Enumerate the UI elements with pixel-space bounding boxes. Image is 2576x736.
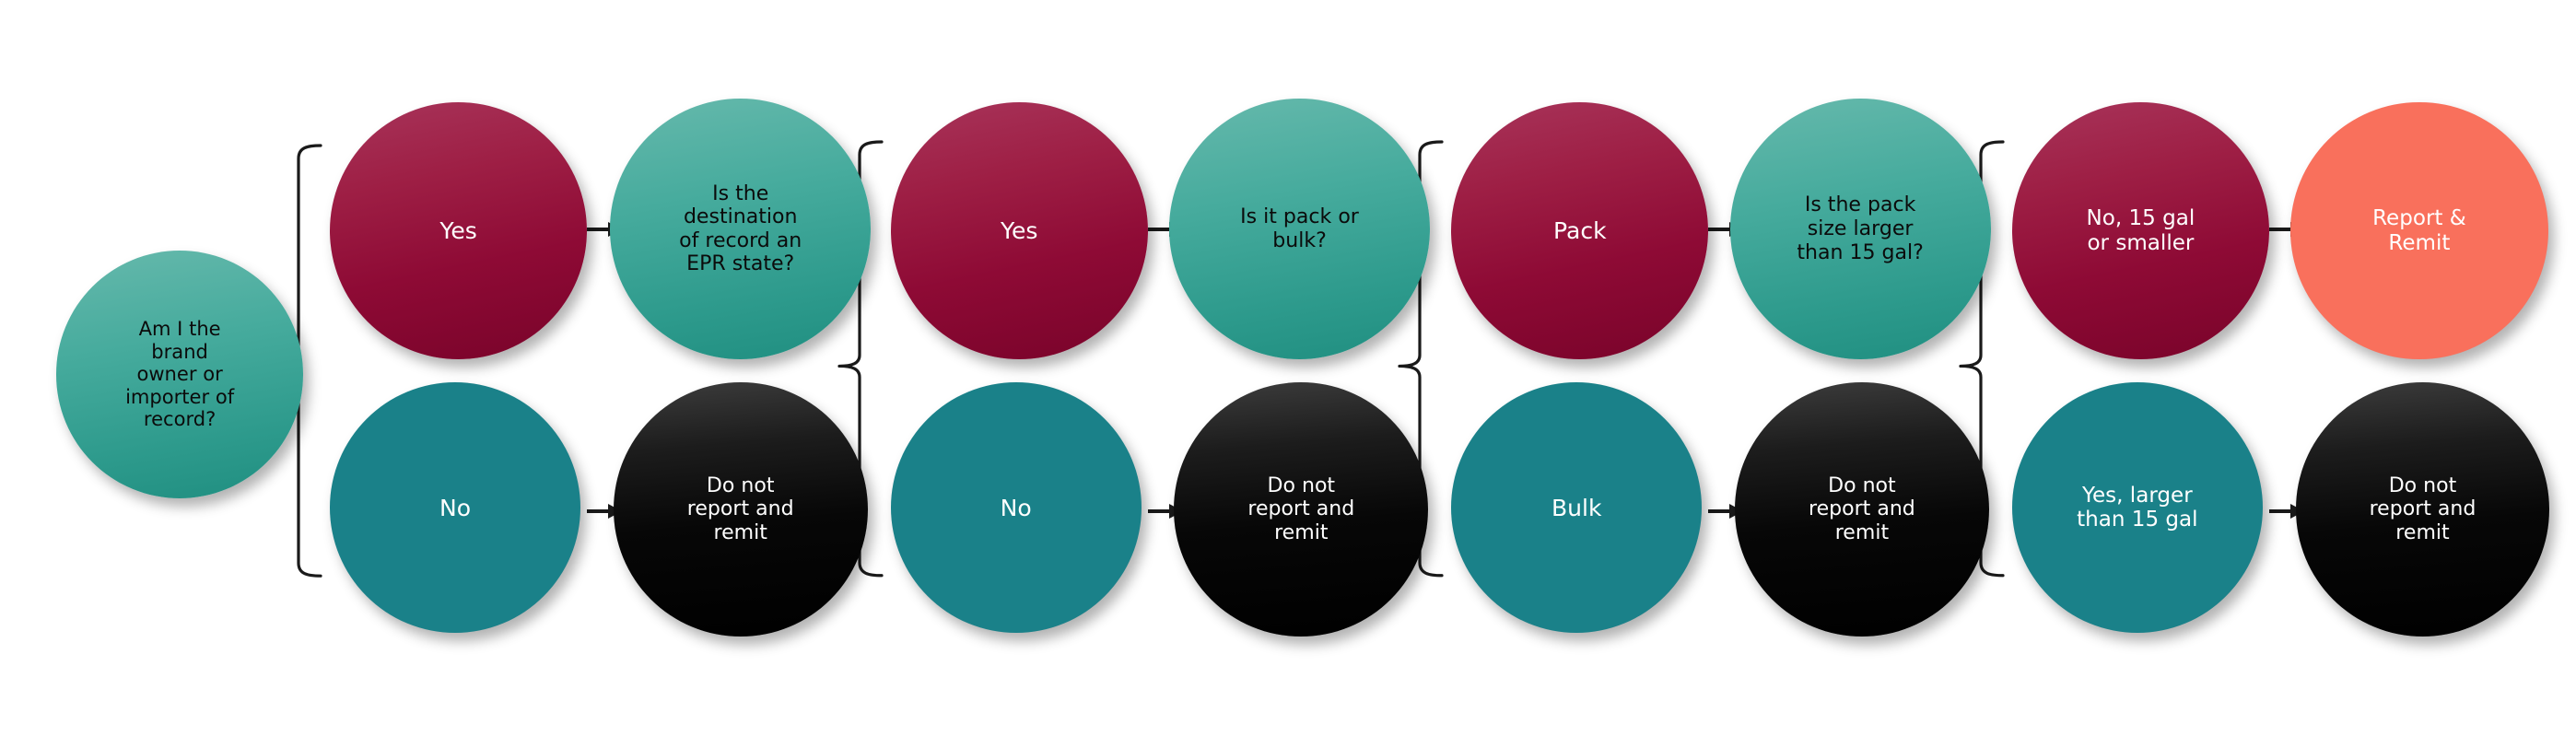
node-label-q4-yes: Yes, larger than 15 gal [2030, 484, 2245, 533]
node-q4-yes[interactable]: Yes, larger than 15 gal [2012, 382, 2263, 633]
node-label-out4: Do not report and remit [2313, 474, 2532, 545]
node-out1[interactable]: Do not report and remit [614, 382, 868, 637]
node-q4-no[interactable]: No, 15 gal or smaller [2012, 102, 2269, 359]
node-label-q2: Is the destination of record an EPR stat… [628, 182, 852, 276]
node-q2-no[interactable]: No [891, 382, 1142, 633]
node-label-q3-pack: Pack [1469, 217, 1691, 244]
node-label-q1-no: No [347, 495, 563, 521]
node-q3-bulk[interactable]: Bulk [1451, 382, 1702, 633]
node-label-q4-no: No, 15 gal or smaller [2030, 206, 2251, 256]
node-q4[interactable]: Is the pack size larger than 15 gal? [1730, 99, 1991, 359]
node-label-start: Am I the brand owner or importer of reco… [74, 318, 287, 430]
node-q3[interactable]: Is it pack or bulk? [1169, 99, 1430, 359]
node-q1-yes[interactable]: Yes [330, 102, 587, 359]
node-q2[interactable]: Is the destination of record an EPR stat… [610, 99, 871, 359]
node-label-q2-no: No [908, 495, 1124, 521]
node-label-out3: Do not report and remit [1752, 474, 1971, 545]
node-label-q1-yes: Yes [348, 217, 569, 244]
node-q2-yes[interactable]: Yes [891, 102, 1148, 359]
node-label-q3: Is it pack or bulk? [1188, 205, 1411, 252]
node-label-q2-yes: Yes [908, 217, 1130, 244]
node-label-out1: Do not report and remit [631, 474, 849, 545]
node-out3[interactable]: Do not report and remit [1735, 382, 1989, 637]
node-label-q4: Is the pack size larger than 15 gal? [1749, 193, 1973, 264]
node-label-q3-bulk: Bulk [1469, 495, 1684, 521]
node-q1-no[interactable]: No [330, 382, 580, 633]
flowchart-canvas: Am I the brand owner or importer of reco… [0, 0, 2576, 736]
node-label-out2: Do not report and remit [1192, 474, 1411, 545]
node-start[interactable]: Am I the brand owner or importer of reco… [56, 251, 304, 498]
node-q3-pack[interactable]: Pack [1451, 102, 1708, 359]
node-out4[interactable]: Do not report and remit [2296, 382, 2550, 637]
node-out2[interactable]: Do not report and remit [1174, 382, 1428, 637]
node-label-out-report: Report & Remit [2309, 206, 2530, 256]
node-out-report[interactable]: Report & Remit [2290, 102, 2547, 359]
